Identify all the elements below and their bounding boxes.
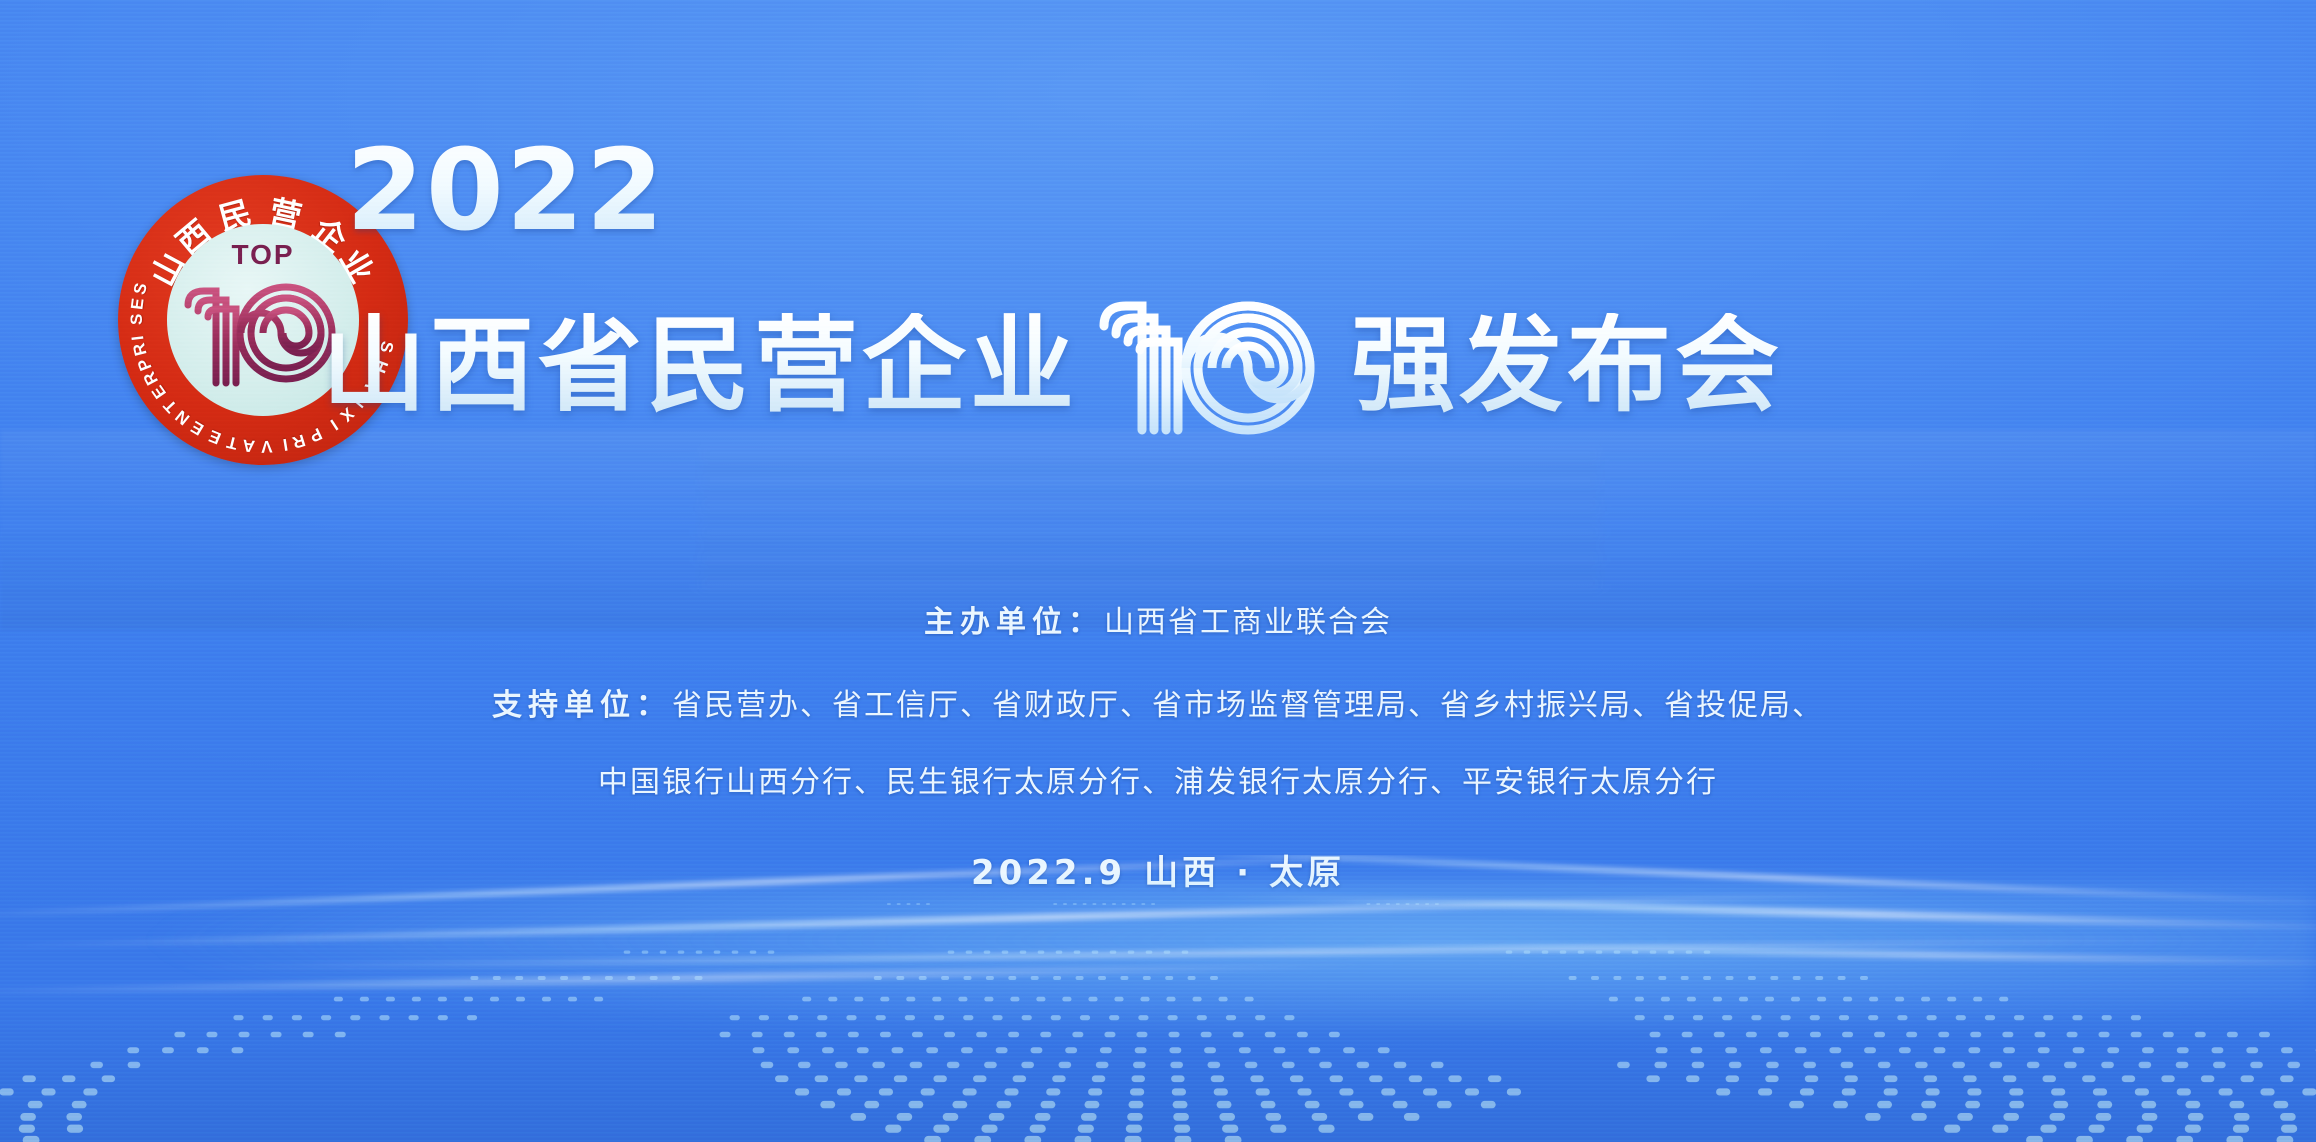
host-label: 主办单位： bbox=[924, 605, 1104, 640]
support-value-1: 省民营办、省工信厅、省财政厅、省市场监督管理局、省乡村振兴局、省投促局、 bbox=[672, 688, 1824, 723]
support-organizations-line-1: 支持单位：省民营办、省工信厅、省财政厅、省市场监督管理局、省乡村振兴局、省投促局… bbox=[0, 680, 2316, 724]
support-organizations-line-2: 中国银行山西分行、民生银行太原分行、浦发银行太原分行、平安银行太原分行 bbox=[0, 757, 2316, 801]
support-label: 支持单位： bbox=[492, 688, 672, 723]
support-value-2: 中国银行山西分行、民生银行太原分行、浦发银行太原分行、平安银行太原分行 bbox=[598, 765, 1718, 800]
host-organization-line: 主办单位：山西省工商业联合会 bbox=[0, 597, 2316, 641]
title-text-part1: 山西省民营企业 bbox=[322, 313, 1078, 417]
bottom-vignette bbox=[0, 992, 2316, 1142]
host-value: 山西省工商业联合会 bbox=[1104, 605, 1392, 640]
page-title: 山西省民营企业 bbox=[322, 290, 1783, 440]
event-backdrop-stage: 山 西 民 营 企 业 S H A N X I P R I V A T E E … bbox=[0, 0, 2316, 1142]
hundred-swirl-logo bbox=[1090, 290, 1345, 440]
title-text-part2: 强发布会 bbox=[1351, 313, 1783, 417]
page-title-year: 2022 bbox=[346, 126, 666, 256]
